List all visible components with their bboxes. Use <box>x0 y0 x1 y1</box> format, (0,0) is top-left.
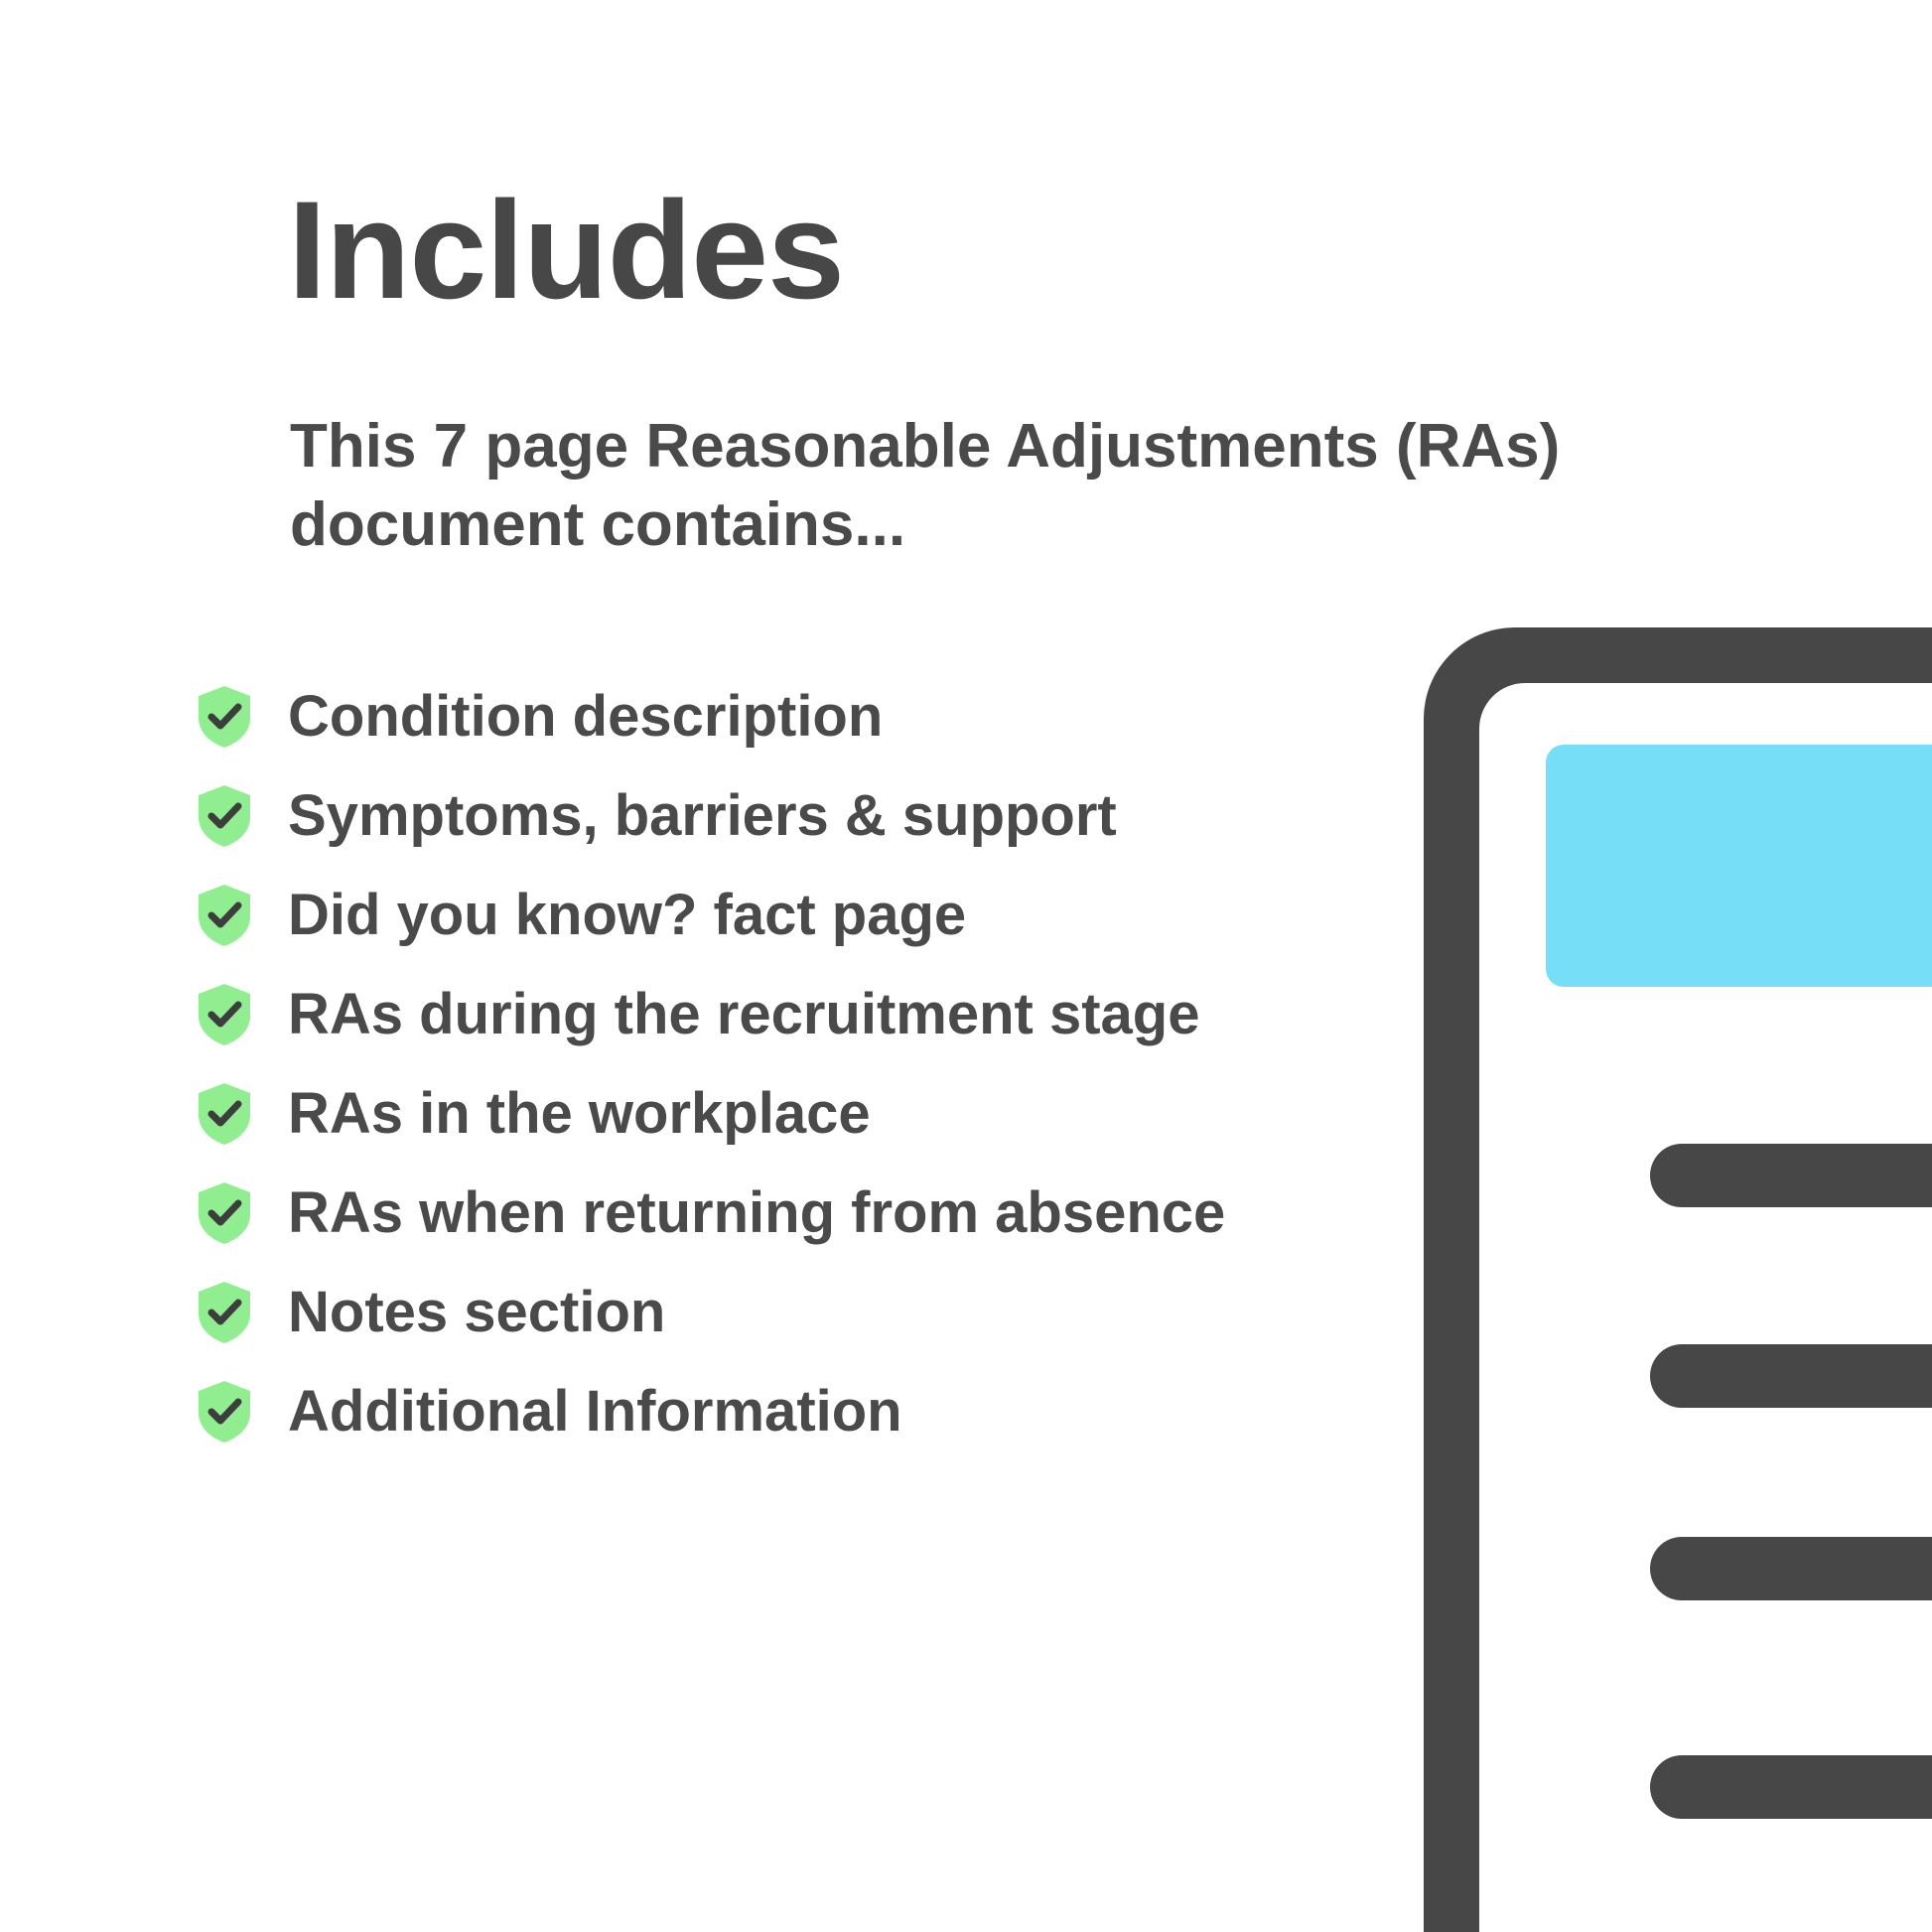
page-subtitle: This 7 page Reasonable Adjustments (RAs)… <box>290 407 1451 565</box>
shield-check-icon <box>195 883 254 948</box>
list-item: RAs in the workplace <box>195 1064 1386 1164</box>
list-item-label: RAs during the recruitment stage <box>288 986 1199 1043</box>
shield-check-icon <box>195 1379 254 1445</box>
list-item-label: Condition description <box>288 688 883 746</box>
document-highlight-block <box>1546 745 1932 987</box>
list-item-label: Symptoms, barriers & support <box>288 787 1117 845</box>
list-item-label: RAs when returning from absence <box>288 1184 1225 1242</box>
page-title: Includes <box>288 181 844 320</box>
shield-check-icon <box>195 783 254 849</box>
list-item-label: Did you know? fact page <box>288 887 966 944</box>
list-item-label: Notes section <box>288 1284 665 1341</box>
shield-check-icon <box>195 1081 254 1147</box>
includes-checklist: Condition description Symptoms, barriers… <box>195 667 1386 1461</box>
shield-check-icon <box>195 1280 254 1345</box>
list-item: RAs when returning from absence <box>195 1164 1386 1263</box>
page-subtitle-line-1: This 7 page Reasonable Adjustments (RAs) <box>290 407 1451 485</box>
document-text-bar <box>1650 1537 1932 1600</box>
list-item: Notes section <box>195 1263 1386 1362</box>
poster-canvas: Includes This 7 page Reasonable Adjustme… <box>0 0 1932 1932</box>
list-item: Symptoms, barriers & support <box>195 766 1386 866</box>
document-text-bar <box>1650 1755 1932 1819</box>
shield-check-icon <box>195 982 254 1047</box>
list-item: Did you know? fact page <box>195 866 1386 965</box>
list-item-label: RAs in the workplace <box>288 1085 871 1143</box>
shield-check-icon <box>195 684 254 750</box>
list-item: Condition description <box>195 667 1386 766</box>
list-item: RAs during the recruitment stage <box>195 965 1386 1064</box>
list-item: Additional Information <box>195 1362 1386 1461</box>
document-text-bar <box>1650 1344 1932 1408</box>
shield-check-icon <box>195 1180 254 1246</box>
document-text-bar <box>1650 1144 1932 1207</box>
list-item-label: Additional Information <box>288 1383 902 1441</box>
page-subtitle-line-2: document contains... <box>290 485 1451 564</box>
